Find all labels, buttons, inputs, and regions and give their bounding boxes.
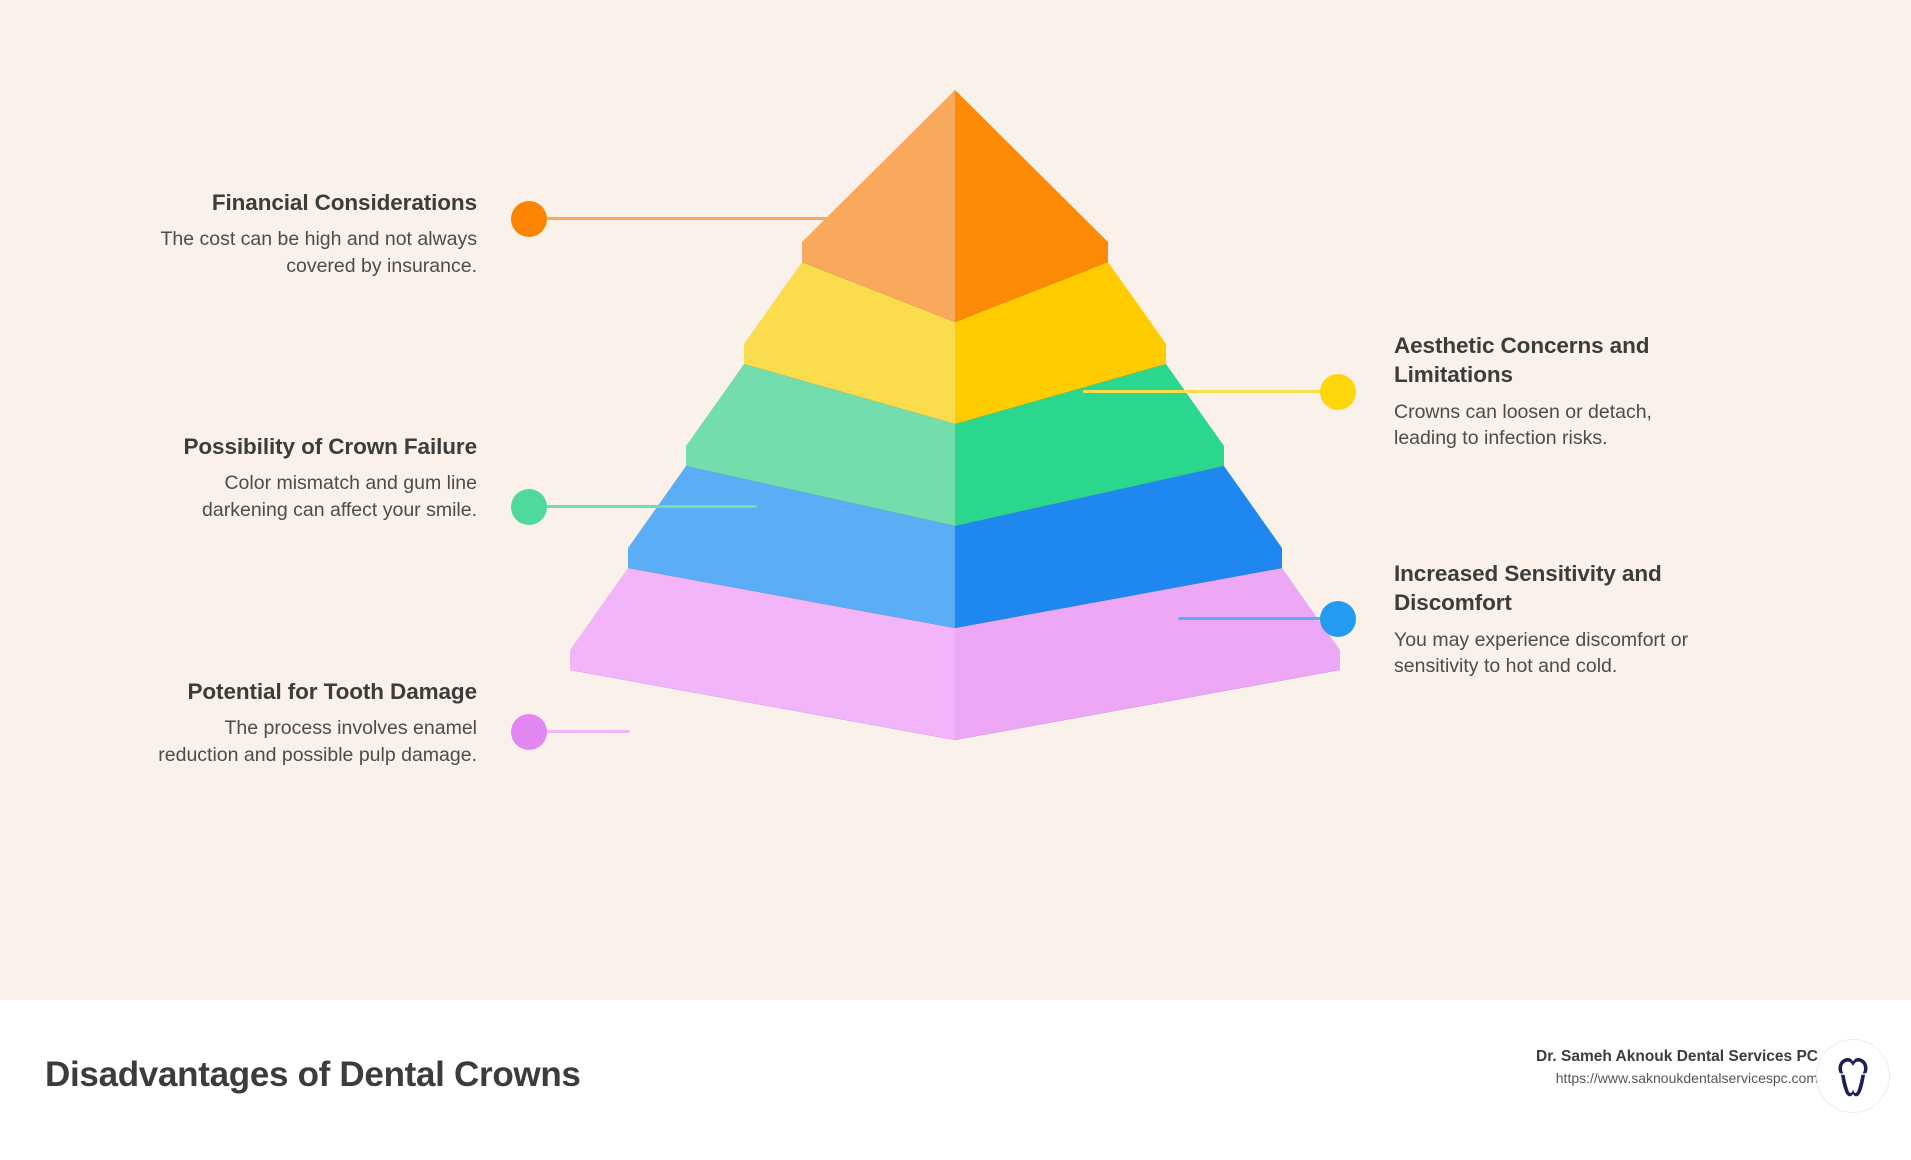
page-title: Disadvantages of Dental Crowns: [45, 1055, 581, 1095]
brand-block: Dr. Sameh Aknouk Dental Services PC http…: [1536, 1045, 1818, 1089]
callout-financial-description: The cost can be high and not always cove…: [157, 226, 477, 280]
leader-line-crown-failure: [545, 505, 757, 508]
leader-line-sensitivity: [1178, 617, 1326, 620]
connector-dot-tooth-damage[interactable]: [511, 714, 547, 750]
callout-tooth-damage-title: Potential for Tooth Damage: [157, 677, 477, 706]
brand-name: Dr. Sameh Aknouk Dental Services PC: [1536, 1045, 1818, 1068]
callout-crown-failure-title: Possibility of Crown Failure: [157, 432, 477, 461]
infographic-root: Financial Considerations The cost can be…: [0, 0, 1911, 1160]
callout-financial-title: Financial Considerations: [157, 188, 477, 217]
callout-financial[interactable]: Financial Considerations The cost can be…: [157, 188, 477, 280]
brand-logo[interactable]: [1817, 1040, 1889, 1112]
callout-crown-failure[interactable]: Possibility of Crown Failure Color misma…: [157, 432, 477, 524]
callout-tooth-damage[interactable]: Potential for Tooth Damage The process i…: [157, 677, 477, 769]
tooth-logo-icon: [1829, 1052, 1877, 1100]
leader-line-aesthetic: [1083, 390, 1326, 393]
callout-aesthetic[interactable]: Aesthetic Concerns and Limitations Crown…: [1394, 331, 1714, 452]
callout-sensitivity-description: You may experience discomfort or sensiti…: [1394, 627, 1714, 681]
callout-crown-failure-description: Color mismatch and gum line darkening ca…: [157, 470, 477, 524]
connector-dot-sensitivity[interactable]: [1320, 601, 1356, 637]
connector-dot-crown-failure[interactable]: [511, 489, 547, 525]
connector-dot-aesthetic[interactable]: [1320, 374, 1356, 410]
pyramid-diagram: [570, 90, 1340, 910]
callout-aesthetic-description: Crowns can loosen or detach, leading to …: [1394, 399, 1714, 453]
leader-line-financial: [545, 217, 885, 220]
callout-sensitivity-title: Increased Sensitivity and Discomfort: [1394, 559, 1714, 618]
callout-aesthetic-title: Aesthetic Concerns and Limitations: [1394, 331, 1714, 390]
brand-url[interactable]: https://www.saknoukdentalservicespc.com: [1536, 1068, 1818, 1089]
callout-tooth-damage-description: The process involves enamel reduction an…: [157, 715, 477, 769]
leader-line-tooth-damage: [545, 730, 630, 733]
connector-dot-financial[interactable]: [511, 201, 547, 237]
callout-sensitivity[interactable]: Increased Sensitivity and Discomfort You…: [1394, 559, 1714, 680]
